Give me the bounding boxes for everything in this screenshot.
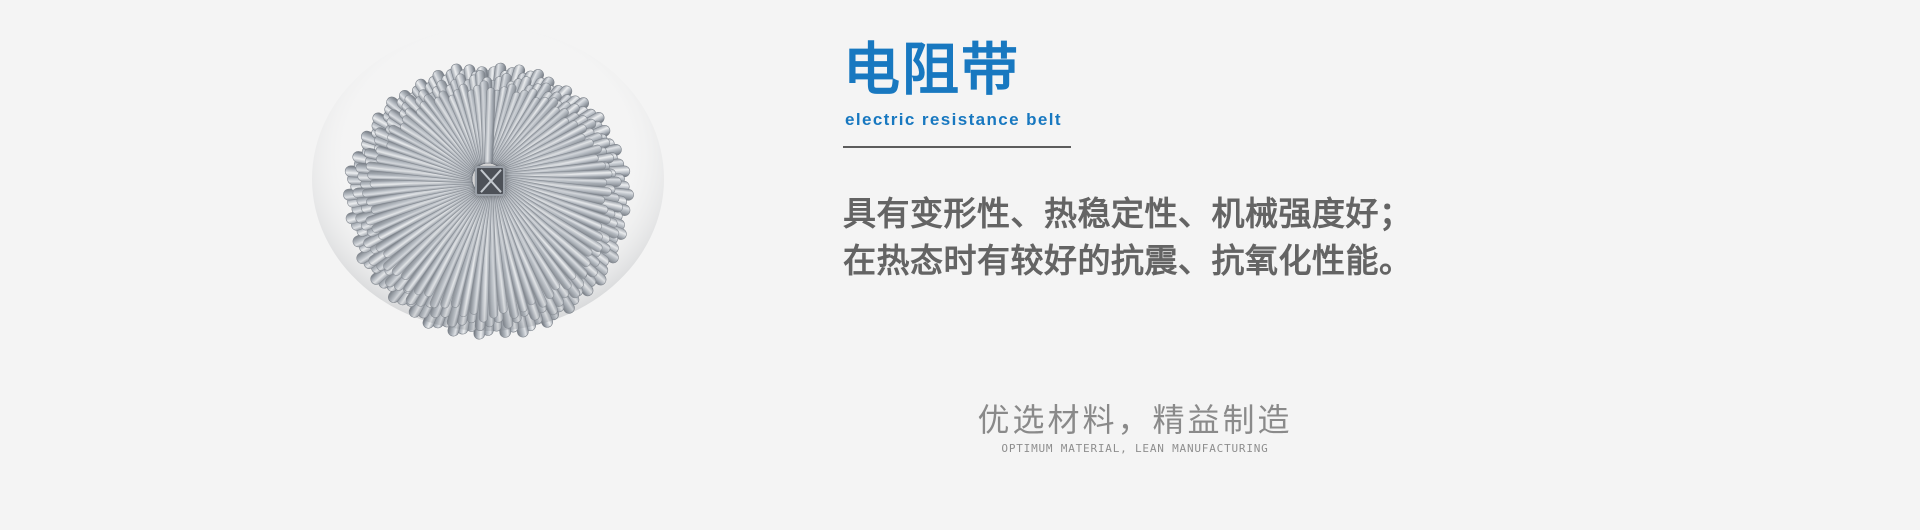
slogan-chinese: 优选材料，精益制造 xyxy=(940,400,1330,440)
slogan-block: 优选材料，精益制造 OPTIMUM MATERIAL, LEAN MANUFAC… xyxy=(940,400,1330,455)
page-subtitle: electric resistance belt xyxy=(845,110,1483,130)
feature-line-1: 具有变形性、热稳定性、机械强度好； xyxy=(843,190,1483,237)
slogan-english: OPTIMUM MATERIAL, LEAN MANUFACTURING xyxy=(940,442,1330,455)
page-title: 电阻带 xyxy=(843,40,1483,100)
feature-text: 具有变形性、热稳定性、机械强度好； 在热态时有较好的抗震、抗氧化性能。 xyxy=(843,190,1483,284)
divider xyxy=(843,146,1071,148)
product-image xyxy=(305,28,665,358)
product-banner: 电阻带 electric resistance belt 具有变形性、热稳定性、… xyxy=(0,0,1920,530)
text-column: 电阻带 electric resistance belt 具有变形性、热稳定性、… xyxy=(843,40,1483,284)
feature-line-2: 在热态时有较好的抗震、抗氧化性能。 xyxy=(843,237,1483,284)
bundle-hub xyxy=(475,166,505,196)
